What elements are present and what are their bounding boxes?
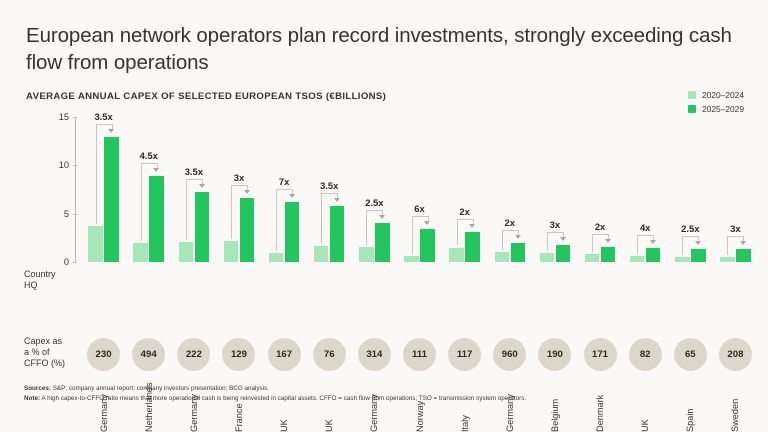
y-axis-line	[75, 117, 76, 262]
bar-2025-2029[interactable]	[420, 229, 435, 262]
multiplier-bracket-top	[231, 185, 247, 186]
multiplier-arrow-icon	[740, 241, 746, 245]
capex-pct-line: CFFO (%)	[24, 358, 65, 369]
multiplier-bracket-top	[682, 236, 698, 237]
bar-2025-2029[interactable]	[195, 192, 210, 262]
multiplier-label: 3.5x	[94, 111, 112, 122]
bar-2025-2029[interactable]	[330, 206, 345, 262]
multiplier-bracket-left	[276, 189, 277, 251]
bar-group: 2.5x	[675, 117, 706, 262]
bar-2020-2024[interactable]	[675, 257, 690, 262]
multiplier-bracket-left	[682, 236, 683, 255]
multiplier-bracket-top	[321, 193, 337, 194]
multiplier-arrow-icon	[560, 237, 566, 241]
multiplier-arrow-icon	[469, 224, 475, 228]
bar-2020-2024[interactable]	[133, 243, 148, 262]
bar-group: 2x	[449, 117, 480, 262]
bar-group: 2x	[585, 117, 616, 262]
multiplier-label: 3x	[550, 219, 560, 230]
bar-group: 2.5x	[359, 117, 390, 262]
multiplier-label: 3x	[234, 172, 244, 183]
multiplier-bracket-top	[592, 234, 608, 235]
bar-2025-2029[interactable]	[375, 223, 390, 262]
multiplier-arrow-icon	[605, 239, 611, 243]
multiplier-bracket-top	[141, 163, 157, 164]
capex-circle: 208	[719, 338, 752, 371]
bar-2025-2029[interactable]	[240, 198, 255, 262]
y-axis-tick-label: 15	[59, 112, 69, 122]
footnote-note-label: Note:	[24, 395, 40, 402]
bar-2020-2024[interactable]	[224, 241, 239, 262]
multiplier-bracket-left	[231, 185, 232, 239]
plot-area: 0510153.5x4.5x3.5x3x7x3.5x2.5x6x2x2x3x2x…	[75, 117, 752, 262]
bar-2020-2024[interactable]	[359, 247, 374, 262]
capex-circle: 65	[674, 338, 707, 371]
y-axis-tick-label: 5	[64, 209, 69, 219]
multiplier-label: 7x	[279, 176, 289, 187]
bar-2025-2029[interactable]	[285, 202, 300, 262]
legend-swatch-icon	[688, 105, 696, 113]
multiplier-bracket-left	[141, 163, 142, 241]
footnote-note-text: A high capex-to-CFFO ratio means that mo…	[40, 395, 526, 402]
multiplier-bracket-top	[366, 210, 382, 211]
multiplier-label: 2x	[459, 206, 469, 217]
multiplier-label: 3x	[730, 223, 740, 234]
multiplier-label: 4.5x	[140, 150, 158, 161]
multiplier-bracket-left	[321, 193, 322, 244]
multiplier-bracket-left	[96, 124, 97, 224]
bar-2025-2029[interactable]	[104, 137, 119, 262]
bar-group: 6x	[404, 117, 435, 262]
bar-group: 7x	[269, 117, 300, 262]
multiplier-arrow-icon	[650, 240, 656, 244]
bar-2020-2024[interactable]	[179, 242, 194, 262]
bar-2020-2024[interactable]	[630, 256, 645, 262]
y-axis-tick-mark	[73, 165, 77, 166]
multiplier-bracket-top	[547, 232, 563, 233]
bar-2025-2029[interactable]	[736, 249, 751, 262]
capex-circle: 190	[538, 338, 571, 371]
multiplier-arrow-icon	[199, 184, 205, 188]
bar-group: 3.5x	[314, 117, 345, 262]
multiplier-label: 3.5x	[185, 166, 203, 177]
multiplier-bracket-left	[186, 179, 187, 239]
multiplier-bracket-top	[412, 216, 428, 217]
bar-2025-2029[interactable]	[465, 232, 480, 262]
bar-2020-2024[interactable]	[88, 226, 103, 262]
bar-2020-2024[interactable]	[495, 252, 510, 262]
bar-group: 4.5x	[133, 117, 164, 262]
multiplier-label: 4x	[640, 222, 650, 233]
bar-2020-2024[interactable]	[269, 253, 284, 262]
multiplier-label: 6x	[414, 203, 424, 214]
multiplier-label: 2x	[595, 221, 605, 232]
multiplier-label: 2.5x	[365, 197, 383, 208]
multiplier-bracket-left	[592, 234, 593, 253]
bar-2020-2024[interactable]	[585, 254, 600, 262]
multiplier-bracket-top	[727, 236, 743, 237]
y-axis-tick-label: 0	[64, 257, 69, 267]
bar-group: 3.5x	[88, 117, 119, 262]
capex-circle: 117	[448, 338, 481, 371]
multiplier-label: 2x	[505, 217, 515, 228]
multiplier-label: 3.5x	[320, 180, 338, 191]
multiplier-arrow-icon	[289, 194, 295, 198]
legend-item[interactable]: 2025–2029	[688, 104, 744, 114]
legend-item-label: 2020–2024	[702, 90, 744, 100]
multiplier-arrow-icon	[695, 241, 701, 245]
multiplier-bracket-left	[502, 230, 503, 251]
capex-circle: 171	[584, 338, 617, 371]
multiplier-bracket-top	[186, 179, 202, 180]
bar-group: 4x	[630, 117, 661, 262]
multiplier-bracket-left	[412, 216, 413, 254]
bar-2020-2024[interactable]	[540, 253, 555, 262]
capex-pct-line: a % of	[24, 347, 65, 358]
bar-2020-2024[interactable]	[404, 256, 419, 262]
multiplier-bracket-top	[502, 230, 518, 231]
country-hq-line: Country	[24, 269, 56, 280]
multiplier-bracket-top	[637, 235, 653, 236]
bar-2025-2029[interactable]	[556, 245, 571, 262]
multiplier-arrow-icon	[334, 198, 340, 202]
capex-circle: 230	[87, 338, 120, 371]
capex-circle: 314	[358, 338, 391, 371]
multiplier-arrow-icon	[379, 215, 385, 219]
multiplier-bracket-top	[96, 124, 112, 125]
y-axis-tick-mark	[73, 117, 77, 118]
multiplier-bracket-left	[637, 235, 638, 254]
multiplier-bracket-left	[547, 232, 548, 252]
bar-2025-2029[interactable]	[149, 176, 164, 262]
multiplier-arrow-icon	[244, 190, 250, 194]
row-label-country-hq: CountryHQ	[24, 269, 56, 291]
multiplier-label: 2.5x	[681, 223, 699, 234]
bar-group: 3x	[540, 117, 571, 262]
chart-page: European network operators plan record i…	[0, 0, 768, 432]
y-axis-tick-mark	[73, 262, 77, 263]
bar-2020-2024[interactable]	[449, 248, 464, 263]
footnote-sources-label: Sources:	[24, 385, 51, 392]
bar-2025-2029[interactable]	[691, 249, 706, 262]
y-axis-tick-mark	[73, 214, 77, 215]
chart-subtitle: AVERAGE ANNUAL CAPEX OF SELECTED EUROPEA…	[26, 91, 386, 102]
footnote-sources: Sources: S&P; company annual report; com…	[24, 385, 269, 393]
multiplier-bracket-left	[457, 219, 458, 245]
multiplier-bracket-top	[457, 219, 473, 220]
capex-circle: 960	[493, 338, 526, 371]
multiplier-bracket-left	[366, 210, 367, 244]
capex-circle: 167	[268, 338, 301, 371]
multiplier-arrow-icon	[424, 221, 430, 225]
multiplier-arrow-icon	[515, 235, 521, 239]
capex-circle: 82	[629, 338, 662, 371]
multiplier-bracket-left	[727, 236, 728, 255]
page-title: European network operators plan record i…	[26, 22, 748, 76]
capex-circle: 494	[132, 338, 165, 371]
multiplier-bracket-top	[276, 189, 292, 190]
bar-2025-2029[interactable]	[646, 248, 661, 262]
capex-pct-line: Capex as	[24, 336, 65, 347]
footnote-sources-text: S&P; company annual report; company inve…	[51, 385, 269, 392]
bar-2020-2024[interactable]	[720, 257, 735, 262]
capex-circle: 76	[313, 338, 346, 371]
capex-circle: 222	[177, 338, 210, 371]
bar-2020-2024[interactable]	[314, 246, 329, 262]
chart-legend: 2020–20242025–2029	[688, 90, 744, 118]
country-hq-line: HQ	[24, 280, 56, 291]
multiplier-arrow-icon	[153, 168, 159, 172]
multiplier-arrow-icon	[108, 129, 114, 133]
bar-group: 3x	[224, 117, 255, 262]
capex-circle: 111	[403, 338, 436, 371]
footnote-note: Note: A high capex-to-CFFO ratio means t…	[24, 395, 526, 403]
bar-group: 2x	[495, 117, 526, 262]
capex-circle: 129	[222, 338, 255, 371]
y-axis-tick-label: 10	[59, 160, 69, 170]
legend-item-label: 2025–2029	[702, 104, 744, 114]
bar-2025-2029[interactable]	[511, 243, 526, 262]
bar-group: 3.5x	[179, 117, 210, 262]
legend-swatch-icon	[688, 91, 696, 99]
row-label-capex-pct: Capex asa % ofCFFO (%)	[24, 336, 65, 369]
legend-item[interactable]: 2020–2024	[688, 90, 744, 100]
bar-2025-2029[interactable]	[601, 247, 616, 262]
bar-group: 3x	[720, 117, 751, 262]
